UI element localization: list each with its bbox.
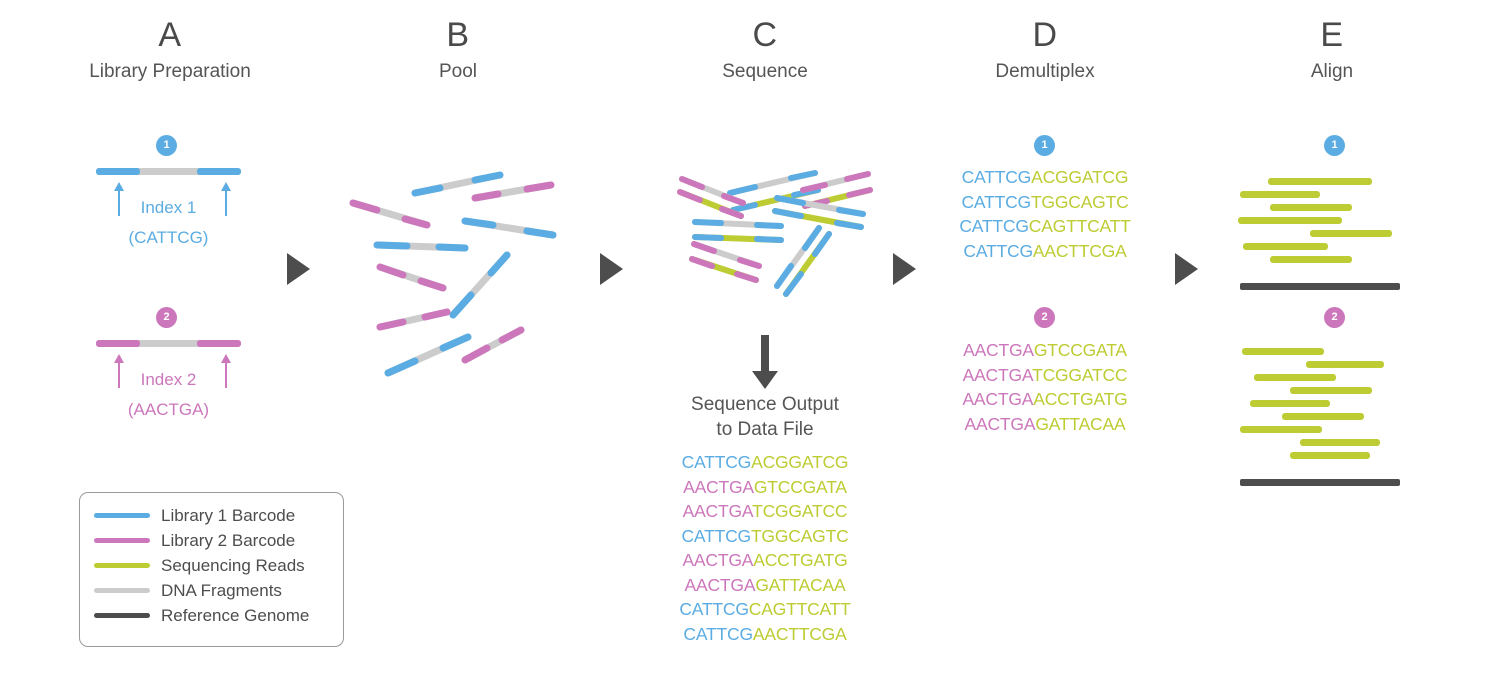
panel-title-d: Demultiplex <box>945 61 1145 83</box>
sequence-fragment-3 <box>803 174 870 206</box>
alignment-read <box>1250 400 1330 407</box>
align-group-2-badge: 2 <box>1324 307 1345 328</box>
panel-letter-e: E <box>1232 18 1432 52</box>
read-insert: GATTACAA <box>1035 414 1125 434</box>
legend-label-sequencing-reads: Sequencing Reads <box>161 553 305 578</box>
sequence-read-line: CATTCGTGGCAGTC <box>660 524 870 549</box>
alignment-read <box>1254 374 1336 381</box>
align-group-1 <box>1240 178 1430 273</box>
panel-letter-c: C <box>665 18 865 52</box>
read-barcode: AACTGA <box>682 550 753 570</box>
legend-swatch-library-2-barcode <box>94 538 150 543</box>
legend-swatch-reference-genome <box>94 613 150 618</box>
sequence-fragment-7 <box>777 228 829 294</box>
read-barcode: CATTCG <box>682 452 751 472</box>
panel-letter-a: A <box>70 18 270 52</box>
sequence-read-line: AACTGATCGGATCC <box>660 499 870 524</box>
read-insert: TGGCAGTC <box>1031 192 1129 212</box>
sequence-read-line: AACTGAGTCCGATA <box>940 338 1150 363</box>
alignment-read <box>1270 204 1352 211</box>
sequence-read-line: CATTCGAACTTCGA <box>660 622 870 647</box>
legend: Library 1 Barcode Library 2 Barcode Sequ… <box>79 492 344 647</box>
library-1-index-name: Index 1 <box>96 195 241 220</box>
alignment-read <box>1290 387 1372 394</box>
read-barcode: AACTGA <box>683 477 754 497</box>
align-group-1-badge: 1 <box>1324 135 1345 156</box>
reference-genome-line <box>1240 479 1400 486</box>
alignment-read <box>1282 413 1364 420</box>
legend-swatch-dna-fragments <box>94 588 150 593</box>
read-insert: ACGGATCG <box>1031 167 1128 187</box>
pool-fragment-5 <box>377 245 465 248</box>
sequence-output-arrow <box>752 335 778 389</box>
read-insert: TCGGATCC <box>1032 365 1127 385</box>
read-insert: ACCTGATG <box>1033 389 1127 409</box>
sequence-read-line: AACTGAGATTACAA <box>940 412 1150 437</box>
library-2-barcode-left <box>96 340 140 347</box>
read-barcode: AACTGA <box>963 340 1034 360</box>
library-1-badge: 1 <box>156 135 177 156</box>
pool-fragment-9 <box>388 337 468 373</box>
alignment-read <box>1290 452 1370 459</box>
legend-label-reference-genome: Reference Genome <box>161 603 309 628</box>
sequence-read-line: AACTGAGTCCGATA <box>660 475 870 500</box>
read-barcode: CATTCG <box>679 599 748 619</box>
alignment-read <box>1268 178 1372 185</box>
panel-letter-d: D <box>945 18 1145 52</box>
library-2-barcode-right <box>197 340 241 347</box>
library-1-barcode-right <box>197 168 241 175</box>
sequence-fragment-6 <box>692 244 759 280</box>
alignment-read <box>1240 191 1320 198</box>
flow-arrow-d-to-e <box>1175 253 1198 285</box>
sequence-read-line: CATTCGCAGTTCATT <box>940 214 1150 239</box>
sequence-read-line: CATTCGTGGCAGTC <box>940 190 1150 215</box>
sequence-fragment-2 <box>680 179 743 216</box>
alignment-read <box>1243 243 1328 250</box>
legend-label-library-2-barcode: Library 2 Barcode <box>161 528 295 553</box>
pool-fragment-4 <box>465 221 553 235</box>
panel-title-c: Sequence <box>665 61 865 83</box>
pool-fragment-3 <box>475 185 551 198</box>
read-barcode: CATTCG <box>961 192 1030 212</box>
read-insert: ACGGATCG <box>751 452 848 472</box>
sequence-read-line: AACTGAGATTACAA <box>660 573 870 598</box>
read-barcode: AACTGA <box>965 414 1036 434</box>
sequence-fragment-5 <box>695 222 781 240</box>
alignment-read <box>1270 256 1352 263</box>
read-insert: GTCCGATA <box>754 477 847 497</box>
panel-title-a: Library Preparation <box>70 61 270 83</box>
read-insert: TGGCAGTC <box>751 526 849 546</box>
read-barcode: AACTGA <box>683 501 752 521</box>
sequence-read-line: CATTCGCAGTTCATT <box>660 597 870 622</box>
legend-swatch-sequencing-reads <box>94 563 150 568</box>
sequence-read-line: AACTGATCGGATCC <box>940 363 1150 388</box>
read-barcode: AACTGA <box>963 365 1032 385</box>
panel-header-c: C Sequence <box>665 18 865 83</box>
pool-fragment-8 <box>380 312 447 327</box>
library-2-badge: 2 <box>156 307 177 328</box>
arrow-head <box>752 371 778 389</box>
read-insert: GATTACAA <box>755 575 845 595</box>
panel-title-e: Align <box>1232 61 1432 83</box>
legend-item-sequencing-reads: Sequencing Reads <box>80 553 343 578</box>
demux-group-1-list: CATTCGACGGATCGCATTCGTGGCAGTCCATTCGCAGTTC… <box>940 165 1150 263</box>
library-1-index-sequence: (CATTCG) <box>96 225 241 250</box>
demux-group-1-badge: 1 <box>1034 135 1055 156</box>
flow-arrow-a-to-b <box>287 253 310 285</box>
read-insert: GTCCGATA <box>1034 340 1127 360</box>
legend-item-library-1-barcode: Library 1 Barcode <box>80 503 343 528</box>
library-1-construct <box>96 168 241 175</box>
read-barcode: CATTCG <box>959 216 1028 236</box>
sequence-read-line: AACTGAACCTGATG <box>940 387 1150 412</box>
read-insert: CAGTTCATT <box>749 599 851 619</box>
pool-fragment-7 <box>453 255 507 315</box>
align-group-2 <box>1240 348 1430 443</box>
legend-swatch-library-1-barcode <box>94 513 150 518</box>
read-insert: TCGGATCC <box>752 501 847 521</box>
sequence-read-line: AACTGAACCTGATG <box>660 548 870 573</box>
arrow-shaft <box>761 335 769 373</box>
library-2-index-sequence: (AACTGA) <box>96 397 241 422</box>
library-1-barcode-left <box>96 168 140 175</box>
panel-title-b: Pool <box>358 61 558 83</box>
legend-item-dna-fragments: DNA Fragments <box>80 578 343 603</box>
read-barcode: AACTGA <box>962 389 1033 409</box>
alignment-read <box>1242 348 1324 355</box>
sequence-read-line: CATTCGAACTTCGA <box>940 239 1150 264</box>
read-insert: CAGTTCATT <box>1029 216 1131 236</box>
read-barcode: CATTCG <box>962 167 1031 187</box>
legend-item-reference-genome: Reference Genome <box>80 603 343 628</box>
sequence-output-caption-line2: to Data File <box>660 417 870 442</box>
library-2-construct <box>96 340 241 347</box>
read-barcode: CATTCG <box>683 624 752 644</box>
pool-fragment-1 <box>415 175 500 193</box>
legend-label-dna-fragments: DNA Fragments <box>161 578 282 603</box>
reference-genome-line <box>1240 283 1400 290</box>
sequence-read-line: CATTCGACGGATCG <box>660 450 870 475</box>
demux-group-2-list: AACTGAGTCCGATAAACTGATCGGATCCAACTGAACCTGA… <box>940 338 1150 436</box>
sequence-output-list: CATTCGACGGATCGAACTGAGTCCGATAAACTGATCGGAT… <box>660 450 870 646</box>
alignment-read <box>1300 439 1380 446</box>
read-barcode: CATTCG <box>681 526 750 546</box>
alignment-read <box>1238 217 1342 224</box>
alignment-read <box>1306 361 1384 368</box>
panel-header-d: D Demultiplex <box>945 18 1145 83</box>
figure-canvas: A Library Preparation B Pool C Sequence … <box>0 0 1500 681</box>
legend-item-library-2-barcode: Library 2 Barcode <box>80 528 343 553</box>
legend-label-library-1-barcode: Library 1 Barcode <box>161 503 295 528</box>
demux-group-2-badge: 2 <box>1034 307 1055 328</box>
library-2-index-name: Index 2 <box>96 367 241 392</box>
pool-fragment-6 <box>380 267 443 288</box>
read-barcode: CATTCG <box>963 241 1032 261</box>
panel-header-a: A Library Preparation <box>70 18 270 83</box>
alignment-read <box>1240 426 1322 433</box>
sequence-fragments <box>655 158 905 348</box>
pool-fragment-2 <box>353 203 427 225</box>
read-insert: ACCTGATG <box>753 550 847 570</box>
read-insert: AACTTCGA <box>753 624 847 644</box>
pool-fragments <box>355 155 605 400</box>
pool-fragment-10 <box>465 330 521 360</box>
read-barcode: AACTGA <box>685 575 756 595</box>
panel-header-b: B Pool <box>358 18 558 83</box>
panel-letter-b: B <box>358 18 558 52</box>
alignment-read <box>1310 230 1392 237</box>
read-insert: AACTTCGA <box>1033 241 1127 261</box>
sequence-output-caption-line1: Sequence Output <box>660 392 870 417</box>
panel-header-e: E Align <box>1232 18 1432 83</box>
sequence-read-line: CATTCGACGGATCG <box>940 165 1150 190</box>
